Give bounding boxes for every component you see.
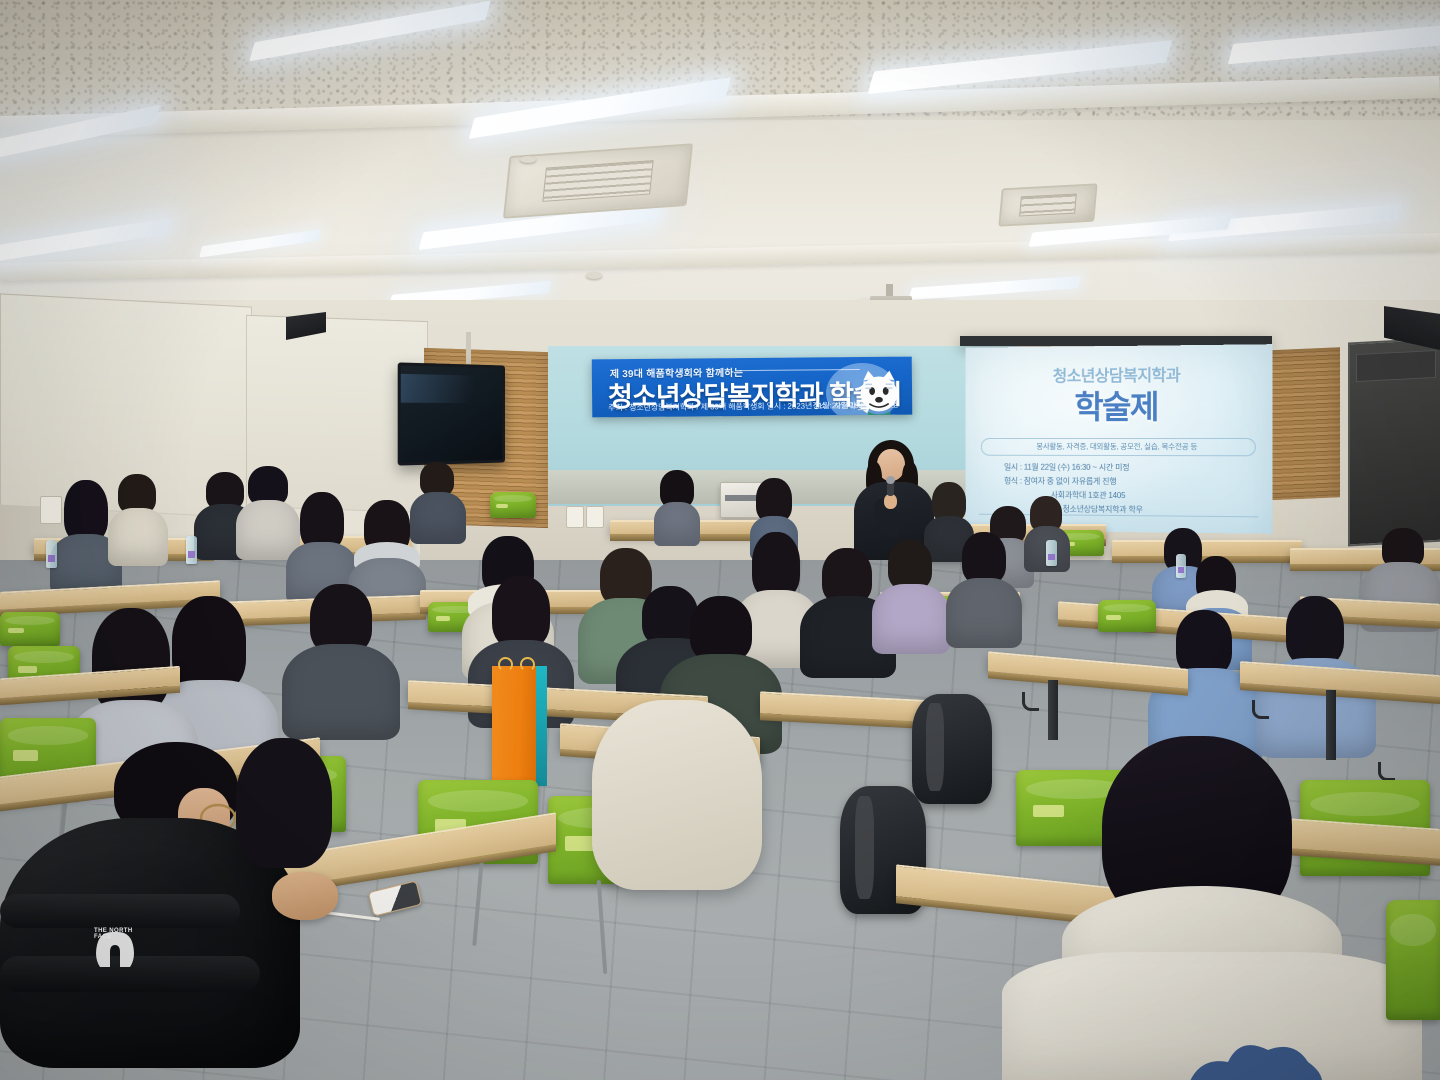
- backpack-strap: [926, 703, 944, 791]
- classroom-door[interactable]: [1348, 337, 1440, 546]
- puffer-baffle: [0, 894, 240, 928]
- torso: [872, 584, 950, 654]
- ceiling-beam: [0, 233, 1440, 281]
- fleece-jacket: [592, 700, 762, 890]
- white-tiger-mascot-icon: [844, 365, 907, 418]
- torso: [654, 502, 700, 546]
- chair-tag: [1033, 805, 1064, 817]
- ceiling-hvac-vent: [998, 183, 1097, 226]
- smoke-detector-icon: [520, 156, 536, 163]
- head-hair: [752, 532, 800, 598]
- torso: [236, 500, 300, 560]
- head-hair: [236, 738, 332, 868]
- desk-bag-hook: [1252, 700, 1269, 719]
- head-hair: [172, 596, 246, 692]
- hvac-grille: [542, 160, 653, 203]
- desk-leg: [1048, 680, 1058, 740]
- slide-bullet: 형식 : 참여자 중 없이 자유롭게 진행: [1004, 475, 1116, 487]
- lecture-hall-photo: EPSON 제 39대 해품학생회와 함께하는 청소년상담복지학과 학술제 주최…: [0, 0, 1440, 1080]
- desk: [1112, 540, 1302, 556]
- smoke-detector-icon: [586, 272, 602, 279]
- ceiling-hvac-vent: [503, 143, 693, 218]
- slide-bullet: 일시 : 11월 22일 (수) 16:30 ~ 시간 미정: [1004, 462, 1129, 473]
- head-hair: [1286, 596, 1344, 666]
- chair[interactable]: [1386, 900, 1440, 1020]
- head-hair: [690, 596, 752, 662]
- event-banner: 제 39대 해품학생회와 함께하는 청소년상담복지학과 학술제 주최 : 청소년…: [592, 357, 912, 418]
- torso: [108, 508, 168, 566]
- chair-tag: [436, 616, 451, 621]
- head-hair: [420, 462, 454, 496]
- fluorescent-strip-light: [909, 276, 1082, 300]
- head-hair: [888, 540, 932, 590]
- hvac-grille: [1020, 193, 1077, 216]
- gift-bag-handle: [498, 657, 513, 672]
- fluorescent-strip-light: [0, 217, 171, 262]
- torso: [282, 644, 400, 740]
- desk-bag-hook: [1022, 692, 1039, 711]
- door-panel: [1356, 350, 1436, 382]
- light-switch[interactable]: [566, 506, 584, 528]
- head-hair: [64, 480, 108, 542]
- gift-bag-side: [536, 666, 547, 786]
- slide-bullet: 청소년상담복지학과 학우: [1063, 504, 1143, 516]
- chair-tag: [8, 628, 24, 633]
- slide-bullet: 사회과학대 1호관 1405: [1051, 490, 1126, 501]
- hoodie-graphic-icon: [1146, 1022, 1346, 1080]
- tv-mount-pole: [466, 332, 471, 364]
- gift-bag[interactable]: [492, 666, 536, 786]
- chair-tag: [18, 666, 37, 673]
- chair-tag: [1106, 615, 1121, 620]
- slide-pill-text: 봉사활동, 자격증, 대외활동, 공모전, 실습, 복수전공 등: [981, 438, 1256, 456]
- ceiling: EPSON: [0, 0, 1440, 340]
- screen-glare: [401, 373, 502, 403]
- light-switch[interactable]: [586, 506, 604, 528]
- chair-tag: [13, 750, 38, 761]
- backpack[interactable]: [912, 694, 992, 804]
- handheld-microphone: [887, 480, 894, 496]
- water-bottle: [186, 536, 197, 564]
- head-hair: [962, 532, 1006, 584]
- water-bottle: [1046, 540, 1057, 566]
- water-bottle: [1176, 554, 1186, 578]
- torso: [946, 578, 1022, 648]
- slide-title: 학술제: [965, 381, 1272, 428]
- head-hair: [492, 576, 550, 648]
- desk-leg: [1326, 690, 1336, 760]
- north-face-brand-text: THE NORTH FACE: [94, 928, 136, 937]
- water-bottle: [46, 540, 57, 568]
- chair[interactable]: [490, 492, 536, 518]
- chair[interactable]: [0, 612, 60, 646]
- wall-mounted-display[interactable]: [398, 362, 505, 465]
- fluorescent-strip-light: [199, 229, 321, 257]
- backpack-strap: [855, 796, 874, 898]
- chair[interactable]: [1098, 600, 1156, 632]
- gift-bag-handle: [520, 657, 535, 672]
- torso: [410, 492, 466, 544]
- presenter-hand: [884, 494, 897, 509]
- head-hair: [1176, 610, 1232, 676]
- light-switch[interactable]: [40, 496, 62, 524]
- hand: [272, 872, 338, 920]
- chair-tag: [496, 504, 508, 508]
- desk-bag-hook: [1378, 762, 1395, 781]
